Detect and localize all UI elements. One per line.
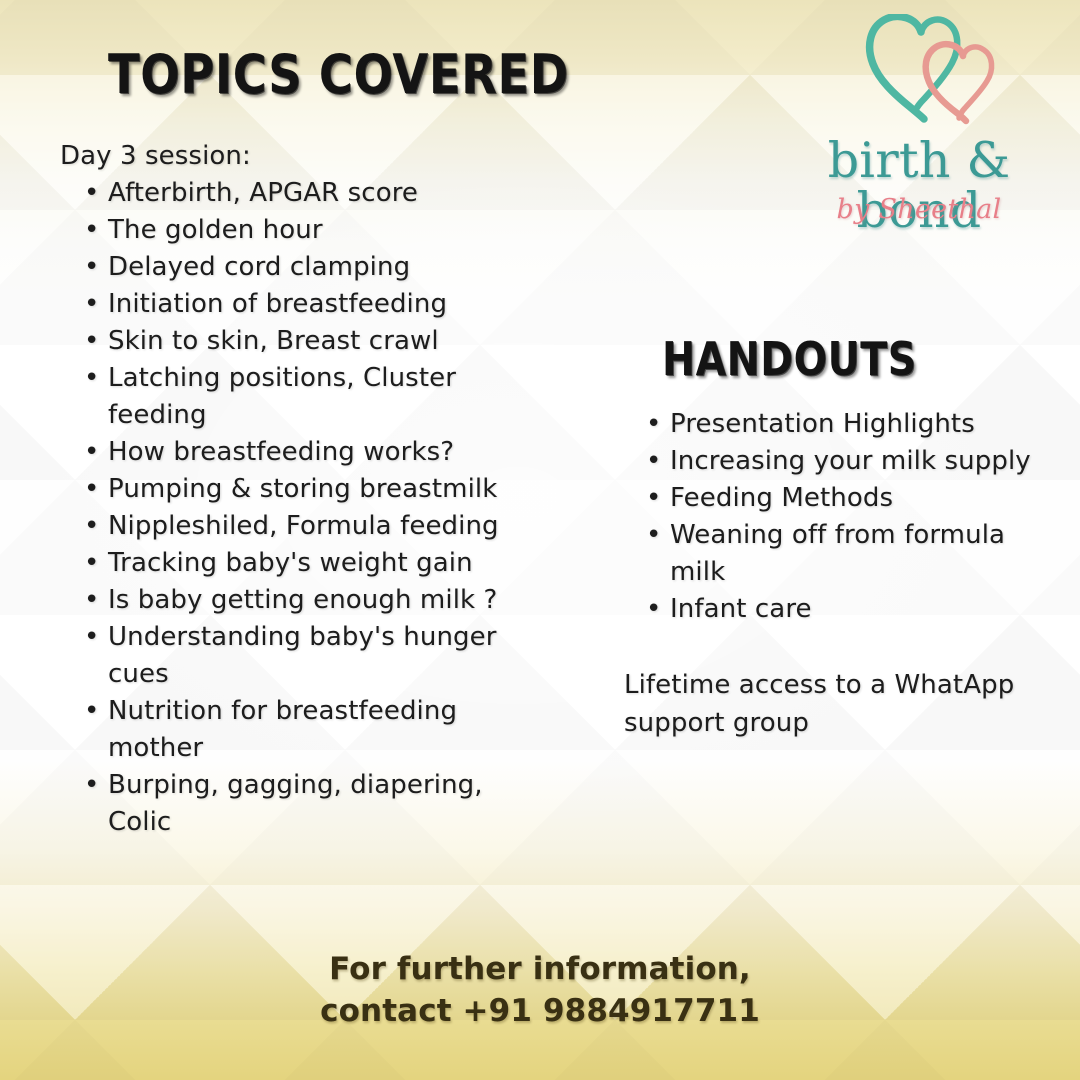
brand-logo: birth & bond by Sheethal: [766, 14, 1072, 226]
footer-line-1: For further information,: [0, 948, 1080, 990]
two-hearts-icon: [824, 14, 1014, 138]
list-item: Afterbirth, APGAR score: [60, 175, 530, 212]
list-item: How breastfeeding works?: [60, 434, 530, 471]
list-item: Initiation of breastfeeding: [60, 286, 530, 323]
list-item: Burping, gagging, diapering, Colic: [60, 767, 530, 841]
whatsapp-support-note: Lifetime access to a WhatApp support gro…: [624, 666, 1064, 742]
list-item: Increasing your milk supply: [624, 443, 1064, 480]
list-item: Feeding Methods: [624, 480, 1064, 517]
list-item: Is baby getting enough milk ?: [60, 582, 530, 619]
list-item: Weaning off from formula milk: [624, 517, 1064, 591]
contact-footer: For further information, contact +91 988…: [0, 948, 1080, 1032]
topics-list: Afterbirth, APGAR score The golden hour …: [60, 175, 530, 841]
poster-canvas: birth & bond by Sheethal TOPICS COVERED …: [0, 0, 1080, 1080]
list-item: Latching positions, Cluster feeding: [60, 360, 530, 434]
handouts-section: Presentation Highlights Increasing your …: [624, 406, 1064, 742]
topics-covered-section: Day 3 session: Afterbirth, APGAR score T…: [60, 138, 530, 841]
topics-intro-label: Day 3 session:: [60, 138, 530, 175]
handouts-list: Presentation Highlights Increasing your …: [624, 406, 1064, 628]
list-item: Infant care: [624, 591, 1064, 628]
handouts-heading: HANDOUTS: [662, 336, 917, 382]
list-item: Nippleshiled, Formula feeding: [60, 508, 530, 545]
list-item: The golden hour: [60, 212, 530, 249]
list-item: Pumping & storing breastmilk: [60, 471, 530, 508]
topics-covered-heading: TOPICS COVERED: [108, 48, 569, 102]
list-item: Understanding baby's hunger cues: [60, 619, 530, 693]
list-item: Tracking baby's weight gain: [60, 545, 530, 582]
footer-contact-number: contact +91 9884917711: [0, 990, 1080, 1032]
logo-byline: by Sheethal: [766, 194, 1072, 225]
list-item: Presentation Highlights: [624, 406, 1064, 443]
list-item: Skin to skin, Breast crawl: [60, 323, 530, 360]
list-item: Delayed cord clamping: [60, 249, 530, 286]
list-item: Nutrition for breastfeeding mother: [60, 693, 530, 767]
